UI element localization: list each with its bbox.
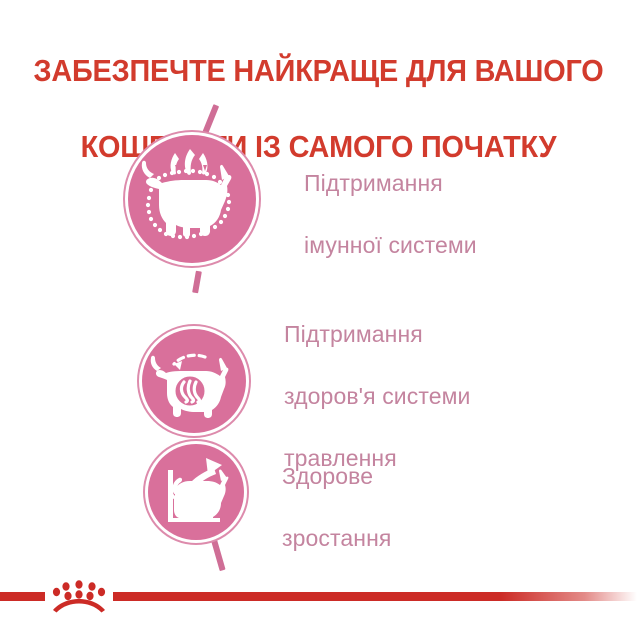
benefit-label-growth-line-1: Здорове [282, 463, 373, 489]
benefit-label-immune-line-2: імунної системи [304, 232, 477, 258]
benefit-label-digestive-line-1: Підтримання [284, 321, 423, 347]
benefit-label-growth-line-2: зростання [282, 525, 391, 551]
benefit-label-growth: Здорове зростання [282, 430, 391, 554]
royal-canin-crown-logo [44, 579, 114, 617]
cat-healthy-growth-icon [148, 444, 244, 540]
benefit-label-immune: Підтримання імунної системи [304, 137, 477, 261]
benefit-label-digestive-line-2: здоров'я системи [284, 383, 470, 409]
cat-immune-shield-icon [128, 135, 256, 263]
cat-digestive-health-icon [142, 329, 246, 433]
benefit-label-immune-line-1: Підтримання [304, 170, 443, 196]
footer-bar-right-segment [113, 592, 637, 601]
footer-bar [0, 568, 637, 630]
infographic-canvas: ЗАБЕЗПЕЧТЕ НАЙКРАЩЕ ДЛЯ ВАШОГО КОШЕНЯТИ … [0, 0, 637, 630]
benefit-item-immune: Підтримання імунної системи [128, 135, 477, 263]
benefit-list: Підтримання імунної системи [0, 0, 637, 630]
footer-bar-left-segment [0, 592, 45, 601]
benefit-item-growth: Здорове зростання [148, 430, 391, 554]
